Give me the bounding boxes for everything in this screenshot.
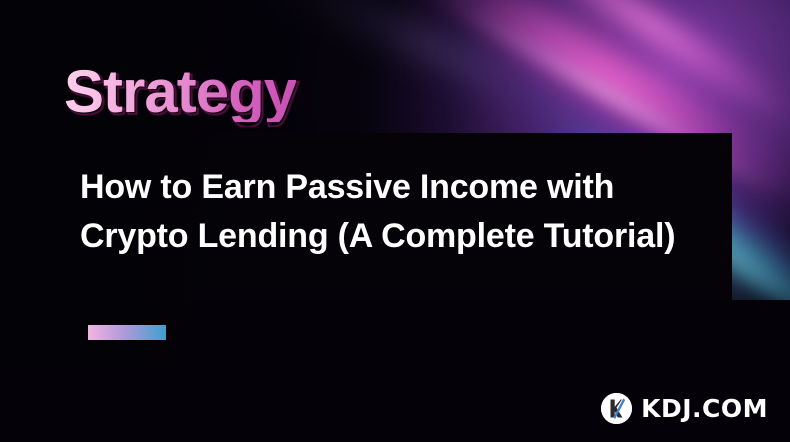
- page-title: How to Earn Passive Income with Crypto L…: [80, 163, 728, 261]
- accent-bar: [88, 325, 166, 340]
- kdj-k-monogram-icon: [601, 393, 632, 424]
- site-logo[interactable]: KDJ.COM: [601, 393, 768, 424]
- site-logo-text: KDJ.COM: [641, 396, 768, 421]
- article-hero-banner: Strategy Strategy How to Earn Passive In…: [0, 0, 790, 442]
- category-kicker: Strategy: [64, 62, 296, 122]
- banner-content: Strategy Strategy How to Earn Passive In…: [0, 0, 790, 442]
